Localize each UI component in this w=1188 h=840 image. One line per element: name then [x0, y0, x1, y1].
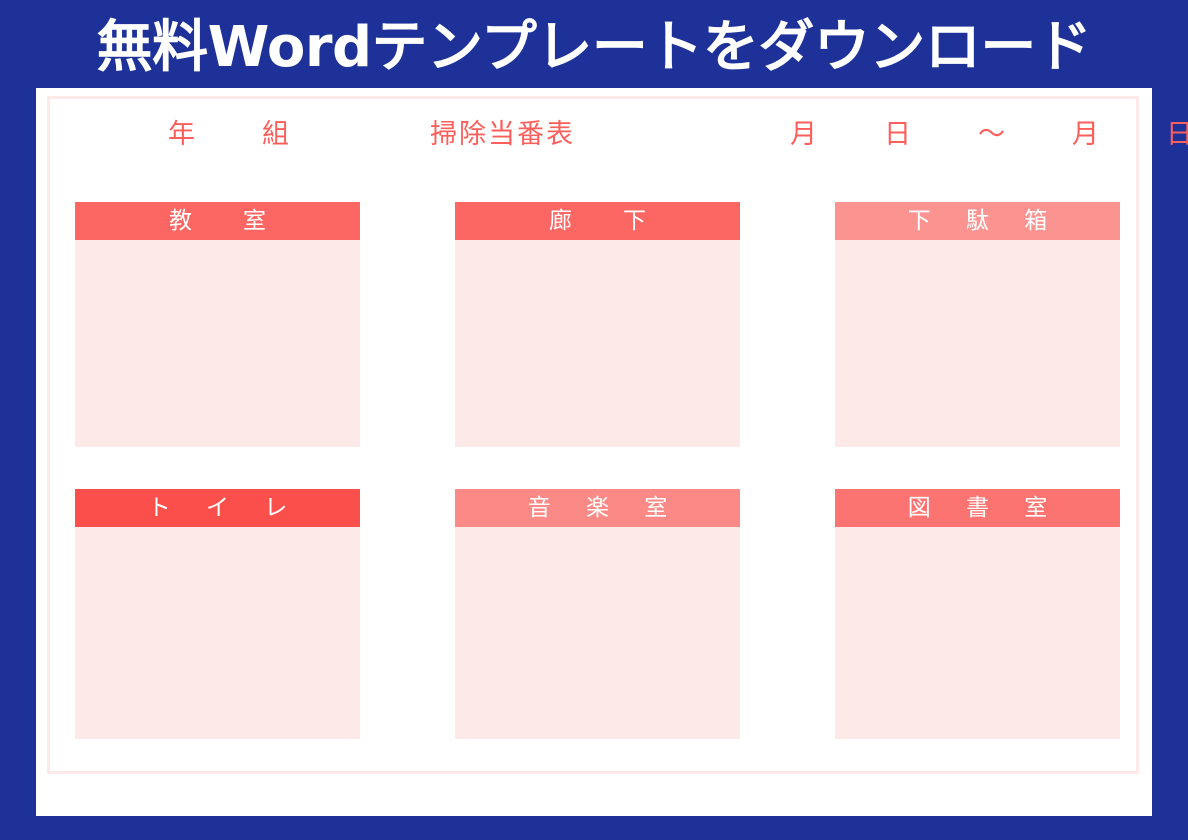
- duty-card-writing-area[interactable]: [75, 240, 360, 447]
- duty-card-writing-area[interactable]: [75, 527, 360, 739]
- duty-card-title: 教 室: [75, 202, 360, 240]
- class-field-label: 年 組: [168, 107, 309, 163]
- duty-card-music-room: 音 楽 室: [455, 489, 740, 739]
- duty-card-classroom: 教 室: [75, 202, 360, 447]
- worksheet-title: 掃除当番表: [430, 107, 575, 163]
- duty-card-title: 下 駄 箱: [835, 202, 1120, 240]
- banner-title: 無料Wordテンプレートをダウンロード: [97, 20, 1092, 76]
- duty-card-writing-area[interactable]: [455, 527, 740, 739]
- screenshot-root: 無料Wordテンプレートをダウンロード 年 組 掃除当番表 月 日 〜 月 日 …: [0, 0, 1188, 840]
- duty-card-writing-area[interactable]: [835, 240, 1120, 447]
- duty-card-library: 図 書 室: [835, 489, 1120, 739]
- document-page: 年 組 掃除当番表 月 日 〜 月 日 教 室 廊 下 下 駄 箱: [36, 88, 1152, 816]
- duty-card-shoe-locker: 下 駄 箱: [835, 202, 1120, 447]
- worksheet-header: 年 組 掃除当番表 月 日 〜 月 日: [50, 107, 1142, 163]
- duty-card-title: 図 書 室: [835, 489, 1120, 527]
- duty-card-writing-area[interactable]: [835, 527, 1120, 739]
- period-field-label: 月 日 〜 月 日: [790, 107, 1188, 163]
- download-banner: 無料Wordテンプレートをダウンロード: [0, 0, 1188, 96]
- duty-card-title: ト イ レ: [75, 489, 360, 527]
- duty-card-writing-area[interactable]: [455, 240, 740, 447]
- duty-card-hallway: 廊 下: [455, 202, 740, 447]
- duty-card-grid: 教 室 廊 下 下 駄 箱 ト イ レ 音 楽 室: [75, 202, 1121, 739]
- duty-card-toilet: ト イ レ: [75, 489, 360, 739]
- worksheet-frame: 年 組 掃除当番表 月 日 〜 月 日 教 室 廊 下 下 駄 箱: [47, 96, 1139, 774]
- duty-card-title: 廊 下: [455, 202, 740, 240]
- duty-card-title: 音 楽 室: [455, 489, 740, 527]
